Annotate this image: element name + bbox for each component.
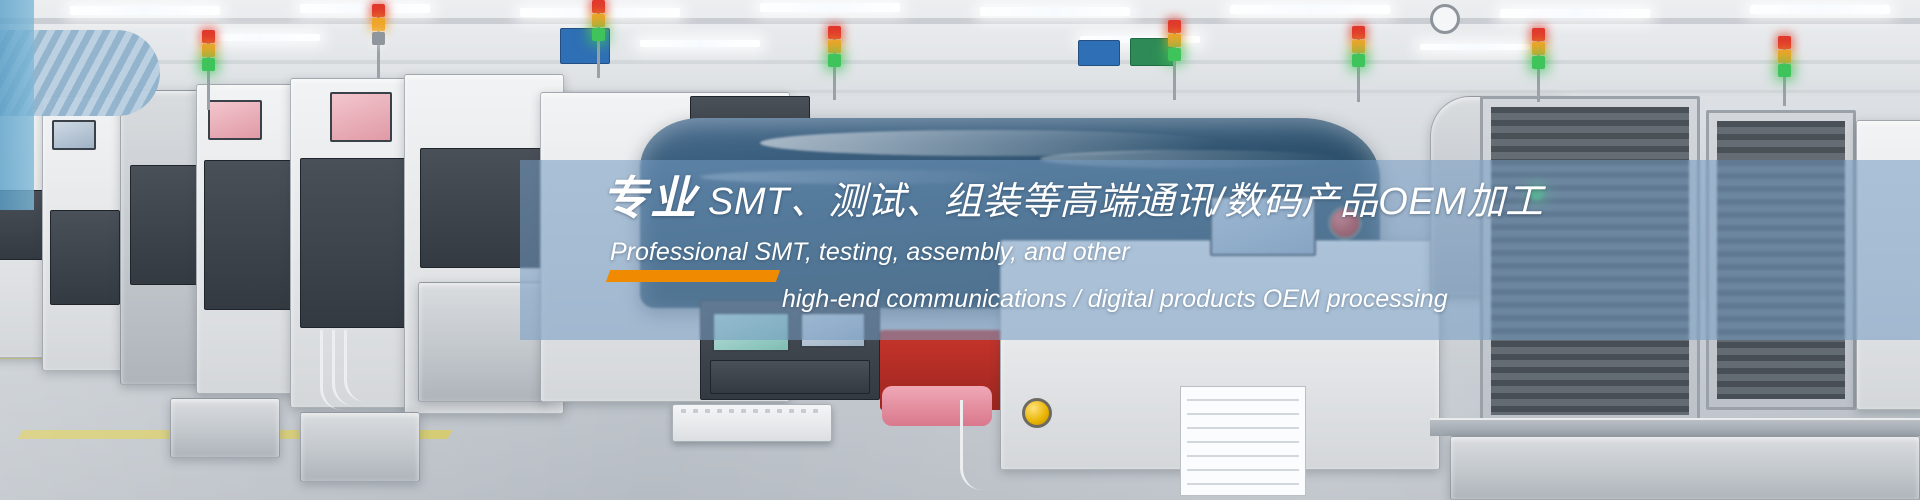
banner-subtitle-line-1: Professional SMT, testing, assembly, and… bbox=[602, 235, 1920, 271]
feeder-cart bbox=[300, 412, 420, 482]
process-document bbox=[1180, 386, 1306, 496]
cable-bundle bbox=[344, 330, 394, 402]
andon-tower-1 bbox=[202, 30, 215, 110]
orange-accent-bar bbox=[606, 270, 780, 282]
operator-keyboard[interactable] bbox=[672, 404, 832, 442]
ceiling-beam bbox=[0, 60, 1920, 64]
overhead-sign bbox=[1078, 40, 1120, 66]
ceiling-light bbox=[980, 7, 1130, 16]
machine-control-panel bbox=[300, 158, 412, 328]
andon-tower-6 bbox=[1352, 26, 1365, 102]
ceiling-light bbox=[760, 3, 900, 12]
machine-display bbox=[208, 100, 262, 140]
ceiling-light bbox=[1500, 9, 1650, 18]
hero-banner: 专业SMT、测试、组装等高端通讯/数码产品OEM加工 Professional … bbox=[0, 0, 1920, 500]
andon-tower-2 bbox=[372, 4, 385, 78]
ceiling-beam bbox=[0, 18, 1920, 24]
ceiling-light bbox=[1420, 44, 1530, 50]
headline-rest-text: SMT、测试、组装等高端通讯/数码产品OEM加工 bbox=[708, 181, 1543, 223]
andon-tower-5 bbox=[1168, 20, 1181, 100]
conveyor-rail bbox=[1430, 418, 1920, 436]
machine-display bbox=[52, 120, 96, 150]
ceiling-light bbox=[300, 4, 430, 13]
wall-clock bbox=[1430, 4, 1460, 34]
machine-control-panel bbox=[204, 160, 300, 310]
ceiling-light bbox=[1750, 5, 1890, 14]
ceiling-light bbox=[640, 40, 760, 47]
ceiling-light bbox=[1230, 5, 1390, 14]
feeder-cart bbox=[170, 398, 280, 458]
machine-display bbox=[330, 92, 392, 142]
banner-headline: 专业SMT、测试、组装等高端通讯/数码产品OEM加工 bbox=[602, 174, 1920, 223]
rack-base bbox=[1450, 436, 1920, 500]
andon-tower-4 bbox=[828, 26, 841, 100]
vertical-duct bbox=[0, 0, 34, 210]
ceiling-light bbox=[70, 6, 220, 15]
button-strip bbox=[710, 360, 870, 394]
andon-tower-3 bbox=[592, 0, 605, 78]
machine-control-panel bbox=[50, 210, 120, 305]
marketing-text-overlay: 专业SMT、测试、组装等高端通讯/数码产品OEM加工 Professional … bbox=[520, 160, 1920, 340]
emergency-stop-button[interactable] bbox=[1022, 398, 1052, 428]
banner-subtitle-line-2: high-end communications / digital produc… bbox=[602, 282, 1920, 318]
headline-lead-text: 专业 bbox=[602, 172, 708, 224]
ceiling-light bbox=[200, 34, 320, 41]
andon-tower-7 bbox=[1532, 28, 1545, 102]
andon-tower-8 bbox=[1778, 36, 1791, 106]
